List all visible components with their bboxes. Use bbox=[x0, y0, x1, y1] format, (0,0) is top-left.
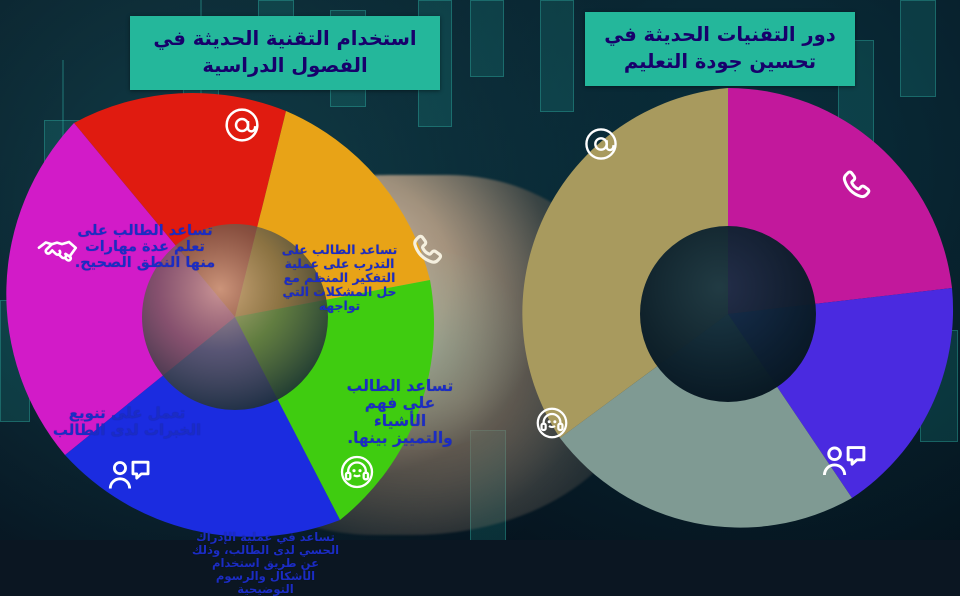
left-segment-blue-label: تساعد في عملية الإدراك الحسي لدى الطالب،… bbox=[188, 531, 343, 596]
left-chart-title-text: استخدام التقنية الحديثة في الفصول الدراس… bbox=[140, 26, 430, 80]
left-donut-chart: تساعد الطالب على تعلم عدة مهارات منها ال… bbox=[10, 95, 460, 540]
candlestick-bar bbox=[470, 0, 504, 77]
right-donut-svg bbox=[500, 88, 955, 540]
left-chart-title-card: استخدام التقنية الحديثة في الفصول الدراس… bbox=[130, 16, 440, 90]
right-donut-chart: تنويع الخبرات المقدمة للمتعلم من خلال ال… bbox=[500, 88, 955, 540]
left-donut-svg bbox=[10, 95, 460, 540]
right-chart-title-card: دور التقنيات الحديثة في تحسين جودة التعل… bbox=[585, 12, 855, 86]
left-donut-hole bbox=[142, 224, 328, 410]
right-segment-purple[interactable] bbox=[728, 88, 952, 314]
candlestick-bar bbox=[900, 0, 936, 97]
right-chart-title-text: دور التقنيات الحديثة في تحسين جودة التعل… bbox=[595, 22, 845, 76]
